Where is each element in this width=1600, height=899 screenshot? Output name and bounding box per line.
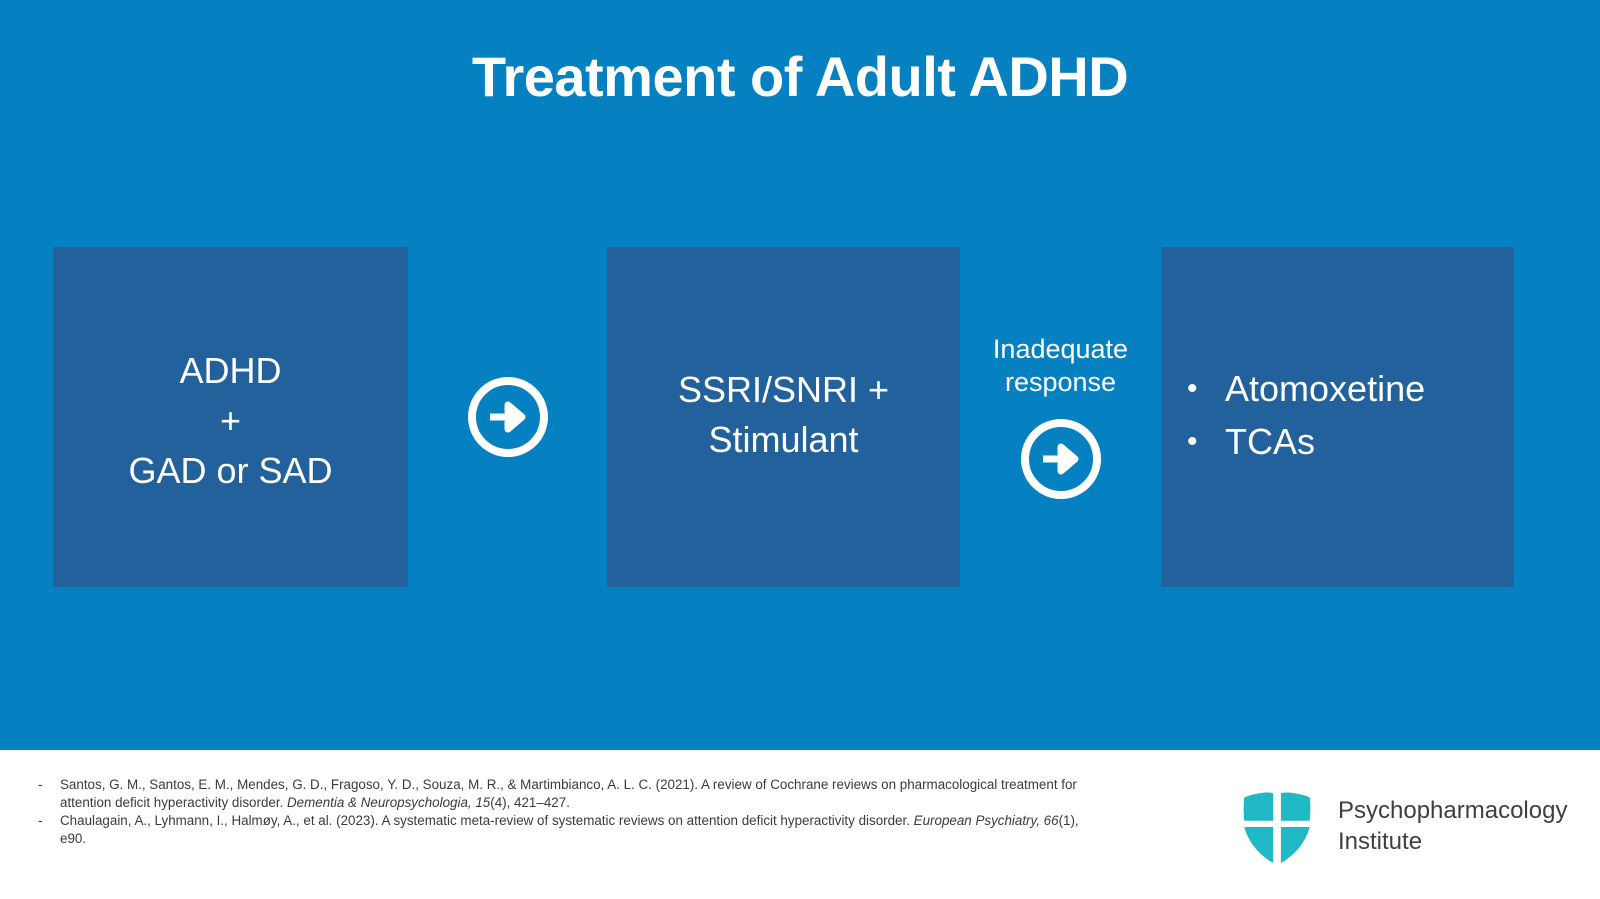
arrow-right-circle-icon [466, 375, 550, 459]
bullet-icon: • [1187, 374, 1225, 404]
slide-canvas: Treatment of Adult ADHD ADHD + GAD or SA… [0, 0, 1600, 750]
list-item-label: TCAs [1225, 415, 1315, 468]
inadequate-response-label: Inadequate response [993, 333, 1128, 399]
list-item: • Atomoxetine [1187, 362, 1425, 415]
list-item-label: Atomoxetine [1225, 362, 1425, 415]
flow-step-adhd-comorbidity: ADHD + GAD or SAD [53, 247, 408, 587]
flow-step-2-label: SSRI/SNRI + Stimulant [607, 365, 960, 464]
alternative-agents-list: • Atomoxetine • TCAs [1161, 362, 1425, 469]
reference-marker: - [38, 776, 60, 811]
reference-text-1: Santos, G. M., Santos, E. M., Mendes, G.… [60, 776, 1098, 811]
flow-connector-2: Inadequate response [960, 247, 1161, 587]
psychopharmacology-institute-logo: Psychopharmacology Institute [1238, 788, 1567, 866]
reference-item: - Chaulagain, A., Lyhmann, I., Halmøy, A… [38, 812, 1098, 847]
list-item: • TCAs [1187, 415, 1425, 468]
slide: Treatment of Adult ADHD ADHD + GAD or SA… [0, 0, 1600, 899]
reference-text-2: Chaulagain, A., Lyhmann, I., Halmøy, A.,… [60, 812, 1098, 847]
flow-step-ssri-stimulant: SSRI/SNRI + Stimulant [607, 247, 960, 587]
treatment-flow-diagram: ADHD + GAD or SAD SSRI/SNRI + Stimulant … [0, 247, 1600, 587]
slide-footer: - Santos, G. M., Santos, E. M., Mendes, … [0, 750, 1600, 899]
logo-wordmark: Psychopharmacology Institute [1338, 796, 1567, 857]
arrow-right-circle-icon [1019, 417, 1103, 501]
page-title: Treatment of Adult ADHD [0, 46, 1600, 108]
references-list: - Santos, G. M., Santos, E. M., Mendes, … [38, 776, 1098, 849]
reference-item: - Santos, G. M., Santos, E. M., Mendes, … [38, 776, 1098, 811]
bullet-icon: • [1187, 427, 1225, 457]
flow-connector-1 [408, 247, 607, 587]
reference-marker: - [38, 812, 60, 847]
flow-step-1-label: ADHD + GAD or SAD [53, 346, 408, 495]
flow-step-alternative-agents: • Atomoxetine • TCAs [1161, 247, 1514, 587]
shield-icon [1238, 788, 1316, 866]
